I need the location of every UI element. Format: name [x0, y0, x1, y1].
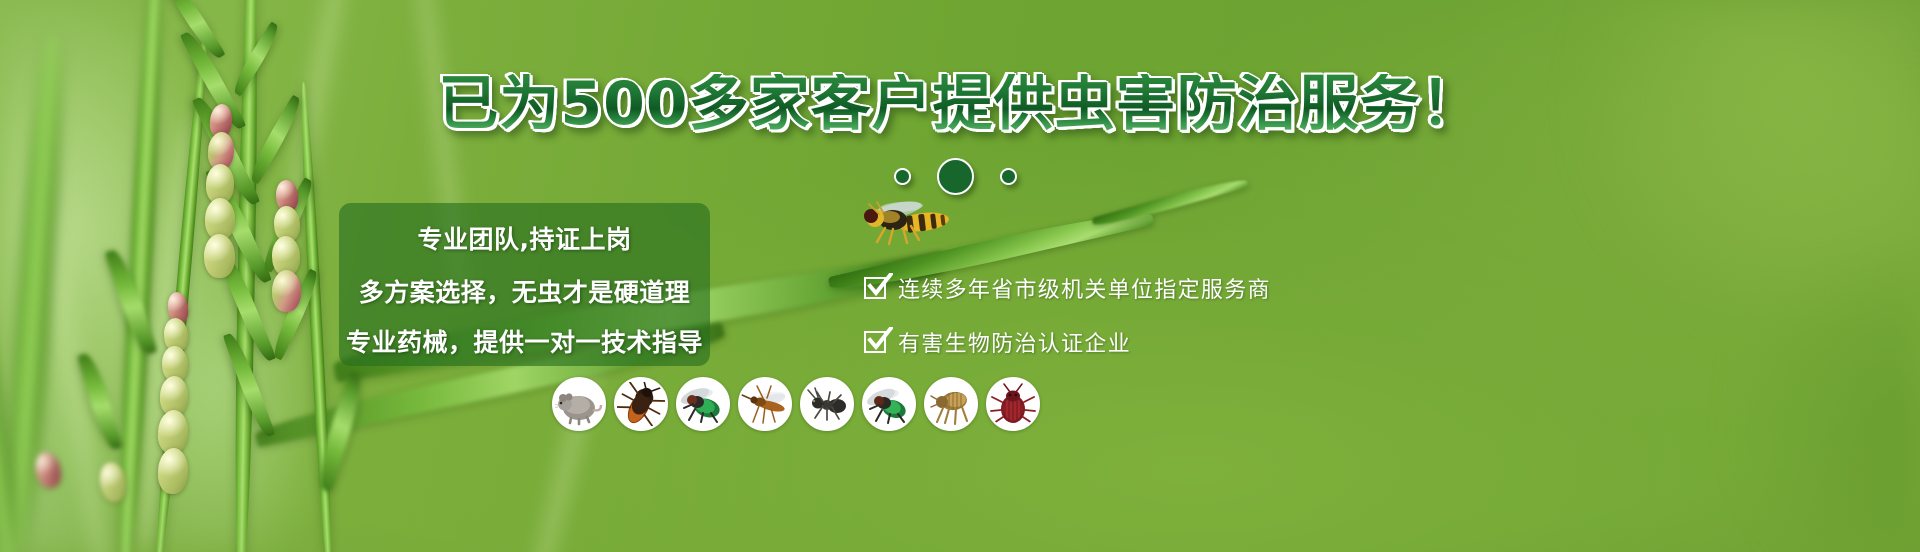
highlight-line-2: 多方案选择，无虫才是硬道理 [339, 273, 710, 309]
highlight-line-1: 专业团队,持证上岗 [339, 220, 710, 256]
checkbox-checked-icon [864, 277, 886, 299]
ant-icon[interactable] [800, 377, 854, 431]
checkbox-checked-icon [864, 331, 886, 353]
checklist-item-text: 有害生物防治认证企业 [898, 326, 1131, 358]
decorative-dot-row [0, 158, 1915, 195]
headline-text: 已为500多家客户提供虫害防治服务！ [438, 74, 1481, 134]
mosquito-icon[interactable] [738, 377, 792, 431]
bedbug-icon[interactable] [986, 377, 1040, 431]
rat-icon[interactable] [552, 377, 606, 431]
checklist-item-text: 连续多年省市级机关单位指定服务商 [898, 272, 1271, 304]
highlight-line-3: 专业药械，提供一对一技术指导 [339, 323, 710, 359]
service-highlights-panel: 专业团队,持证上岗 多方案选择，无虫才是硬道理 专业药械，提供一对一技术指导 [339, 203, 710, 366]
credentials-checklist: 连续多年省市级机关单位指定服务商 有害生物防治认证企业 [864, 272, 1271, 380]
hoverfly-icon [845, 196, 965, 252]
decorative-dot-small-right [1000, 168, 1017, 185]
banner-headline: 已为500多家客户提供虫害防治服务！ [0, 74, 1920, 134]
blowfly-icon[interactable] [676, 377, 730, 431]
checklist-item: 有害生物防治认证企业 [864, 326, 1271, 358]
decorative-dot-small-left [894, 168, 911, 185]
pest-type-icon-strip [552, 377, 1040, 431]
checklist-item: 连续多年省市级机关单位指定服务商 [864, 272, 1271, 304]
flea-icon[interactable] [924, 377, 978, 431]
cockroach-icon[interactable] [614, 377, 668, 431]
housefly-icon[interactable] [862, 377, 916, 431]
decorative-dot-large-center [937, 158, 974, 195]
pest-control-hero-banner: 已为500多家客户提供虫害防治服务！ [0, 0, 1920, 552]
